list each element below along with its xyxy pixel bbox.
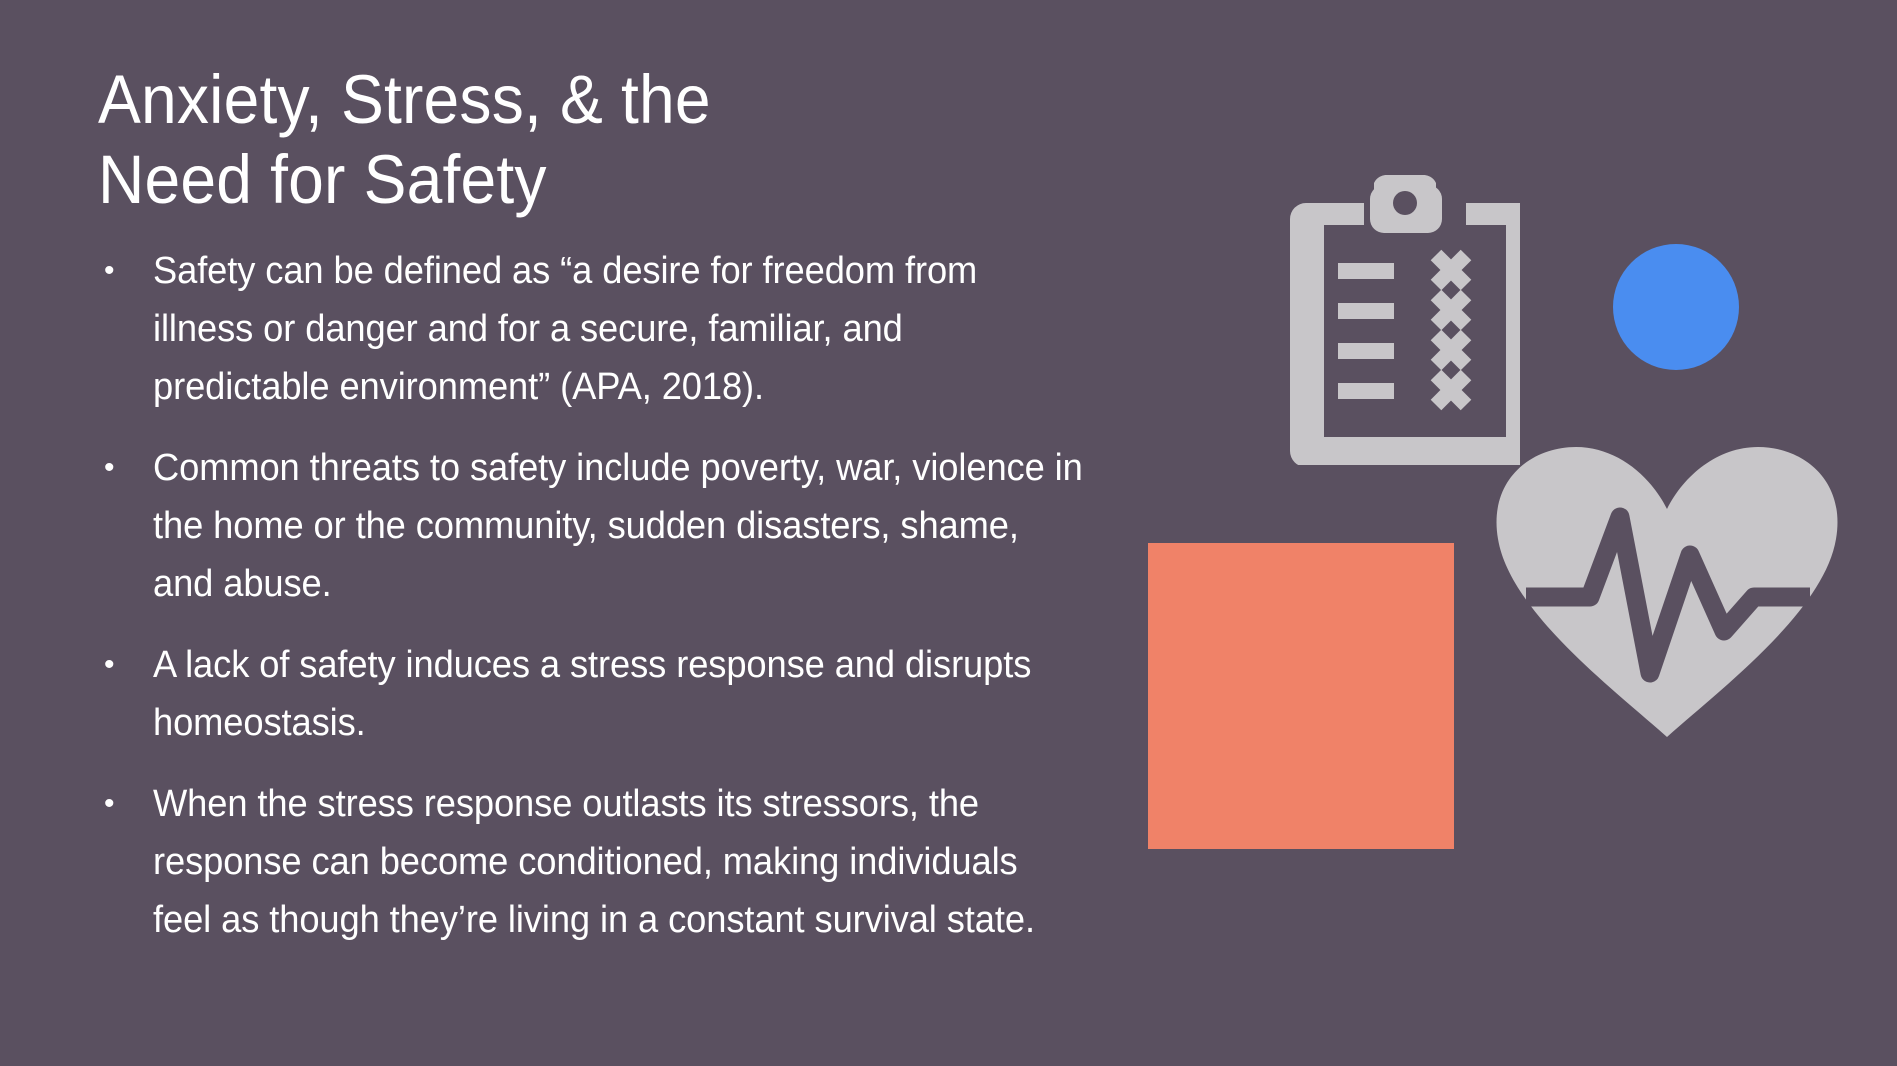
list-item: • Safety can be defined as “a desire for…: [98, 242, 1128, 416]
bullet-text: A lack of safety induces a stress respon…: [153, 636, 1084, 752]
blue-circle-decoration: [1613, 244, 1739, 370]
bullet-point-icon: •: [98, 636, 153, 694]
slide-content: Anxiety, Stress, & the Need for Safety •…: [98, 60, 1128, 972]
clipboard-checklist-icon: [1290, 175, 1520, 470]
bullet-point-icon: •: [98, 775, 153, 833]
coral-square-decoration: [1148, 543, 1454, 849]
bullet-text: When the stress response outlasts its st…: [153, 775, 1084, 949]
bullet-point-icon: •: [98, 439, 153, 497]
bullet-point-icon: •: [98, 242, 153, 300]
slide-canvas: Anxiety, Stress, & the Need for Safety •…: [0, 0, 1897, 1066]
list-item: • When the stress response outlasts its …: [98, 775, 1128, 949]
heart-pulse-icon: [1492, 445, 1842, 750]
list-item: • Common threats to safety include pover…: [98, 439, 1128, 613]
bullet-text: Common threats to safety include poverty…: [153, 439, 1084, 613]
bullet-list: • Safety can be defined as “a desire for…: [98, 242, 1128, 949]
slide-title: Anxiety, Stress, & the Need for Safety: [98, 60, 1056, 220]
list-item: • A lack of safety induces a stress resp…: [98, 636, 1128, 752]
bullet-text: Safety can be defined as “a desire for f…: [153, 242, 1084, 416]
